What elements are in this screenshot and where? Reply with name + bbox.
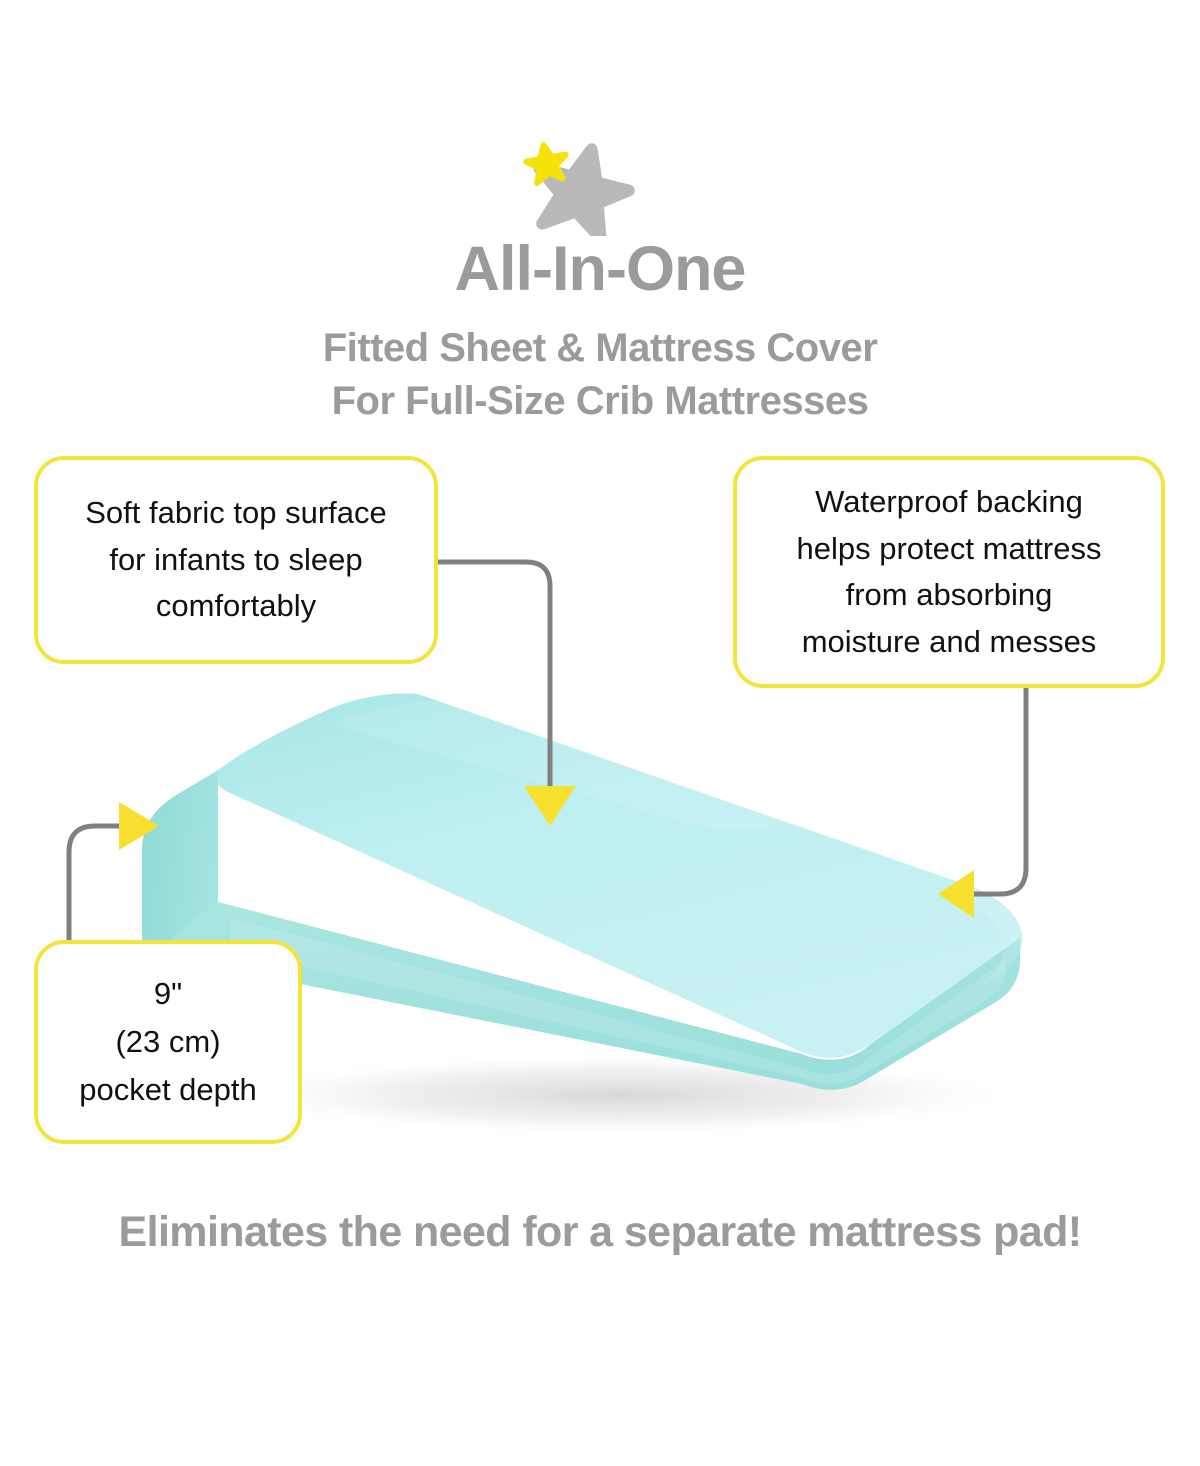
callout-soft-fabric: Soft fabric top surface for infants to s… bbox=[34, 456, 438, 664]
callout-waterproof-line-1: Waterproof backing bbox=[797, 479, 1102, 526]
arrow-down-icon bbox=[524, 786, 576, 826]
infographic-page: All-In-One Fitted Sheet & Mattress Cover… bbox=[0, 0, 1200, 1466]
callout-waterproof: Waterproof backing helps protect mattres… bbox=[733, 456, 1165, 688]
double-star-logo-icon bbox=[519, 140, 641, 236]
arrow-right-icon bbox=[119, 802, 159, 850]
subtitle-line-1: Fitted Sheet & Mattress Cover bbox=[0, 322, 1200, 375]
page-subtitle: Fitted Sheet & Mattress Cover For Full-S… bbox=[0, 322, 1200, 428]
callout-waterproof-line-4: moisture and messes bbox=[797, 619, 1102, 666]
arrow-left-icon bbox=[938, 870, 974, 918]
callout-pocket-depth-line-2: (23 cm) bbox=[79, 1018, 257, 1066]
callout-waterproof-line-2: helps protect mattress bbox=[797, 526, 1102, 573]
callout-soft-fabric-line-3: comfortably bbox=[85, 583, 387, 630]
connector-soft-fabric bbox=[420, 540, 600, 830]
callout-pocket-depth: 9" (23 cm) pocket depth bbox=[34, 940, 302, 1144]
callout-soft-fabric-line-2: for infants to sleep bbox=[85, 537, 387, 584]
subtitle-line-2: For Full-Size Crib Mattresses bbox=[0, 375, 1200, 428]
callout-soft-fabric-line-1: Soft fabric top surface bbox=[85, 490, 387, 537]
page-title: All-In-One bbox=[0, 236, 1200, 302]
footer-tagline: Eliminates the need for a separate mattr… bbox=[0, 1208, 1200, 1257]
connector-waterproof bbox=[930, 670, 1090, 930]
callout-pocket-depth-line-1: 9" bbox=[79, 970, 257, 1018]
callout-pocket-depth-line-3: pocket depth bbox=[79, 1066, 257, 1114]
callout-waterproof-line-3: from absorbing bbox=[797, 572, 1102, 619]
